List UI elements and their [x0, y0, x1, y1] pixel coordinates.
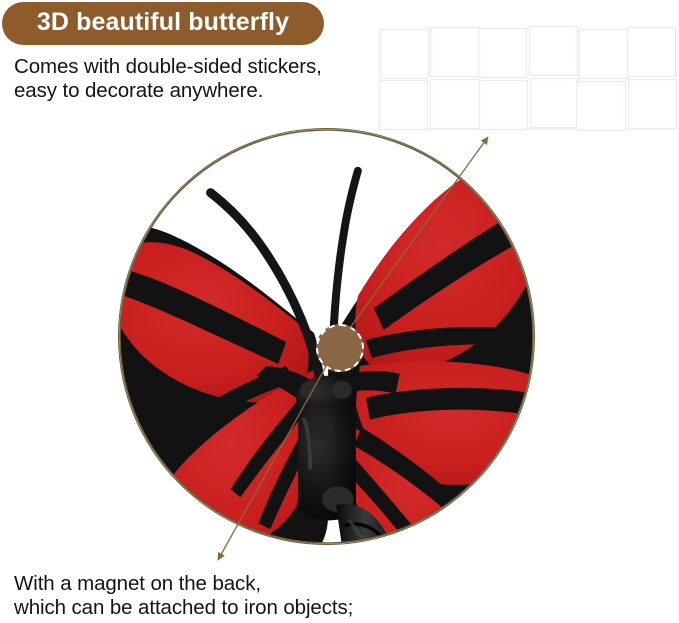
top-caption-text: Comes with double-sided stickers, easy t… — [14, 55, 322, 102]
title-badge: 3D beautiful butterfly — [2, 2, 324, 45]
sticker-square — [479, 80, 528, 130]
sticker-square — [430, 27, 479, 77]
sticker-square — [379, 80, 428, 130]
butterfly-body — [296, 376, 356, 521]
magnet-disc — [316, 324, 364, 372]
title-badge-label: 3D beautiful butterfly — [37, 10, 289, 37]
sticker-square — [530, 78, 579, 128]
sticker-square — [628, 79, 677, 129]
sticker-square — [478, 28, 527, 78]
sticker-square — [576, 81, 625, 131]
sticker-square — [579, 29, 628, 79]
sticker-square — [430, 79, 479, 129]
sticker-square — [380, 29, 429, 79]
bottom-caption-text: With a magnet on the back, which can be … — [14, 572, 353, 619]
sticker-square — [529, 26, 578, 76]
sticker-sheet-image — [380, 28, 676, 128]
sticker-square — [627, 27, 676, 77]
